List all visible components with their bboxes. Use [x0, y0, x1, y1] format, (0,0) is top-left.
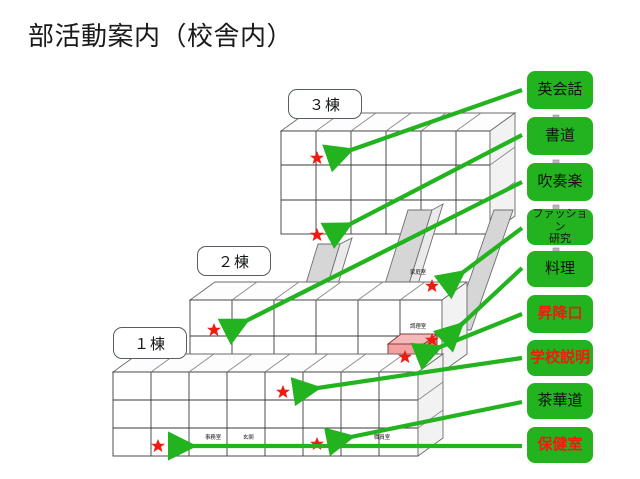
callout-shokoguchi[interactable]: 昇降口	[527, 295, 593, 333]
callout-fashion-kenkyu[interactable]: ファッション研究	[527, 209, 593, 245]
wing-tag-2: ２棟	[197, 246, 271, 276]
wing-tag-1: １棟	[113, 327, 187, 359]
wing-3-block	[281, 113, 515, 234]
room-label-kateishitsu: 家庭室	[410, 268, 426, 276]
callout-gakko-setsumei[interactable]: 学校説明	[527, 340, 593, 376]
callout-eikaiwa[interactable]: 英会話	[527, 71, 593, 109]
room-label-genkan: 玄関	[243, 433, 254, 441]
callout-shodo[interactable]: 書道	[527, 117, 593, 155]
callout-sakado[interactable]: 茶華道	[527, 383, 593, 419]
slide-canvas: 部活動案内（校舎内）	[0, 0, 640, 479]
callout-ryori[interactable]: 料理	[527, 251, 593, 287]
room-label-shokuinshitsu: 職員室	[374, 433, 390, 441]
callout-suisogaku[interactable]: 吹奏楽	[527, 163, 593, 201]
wing-1-block	[113, 354, 443, 456]
room-label-chorishitsu: 調理室	[410, 322, 426, 330]
callout-hokenshitsu[interactable]: 保健室	[527, 427, 593, 463]
room-label-jimushitsu: 事務室	[205, 433, 221, 441]
wing-tag-3: ３棟	[288, 89, 362, 119]
